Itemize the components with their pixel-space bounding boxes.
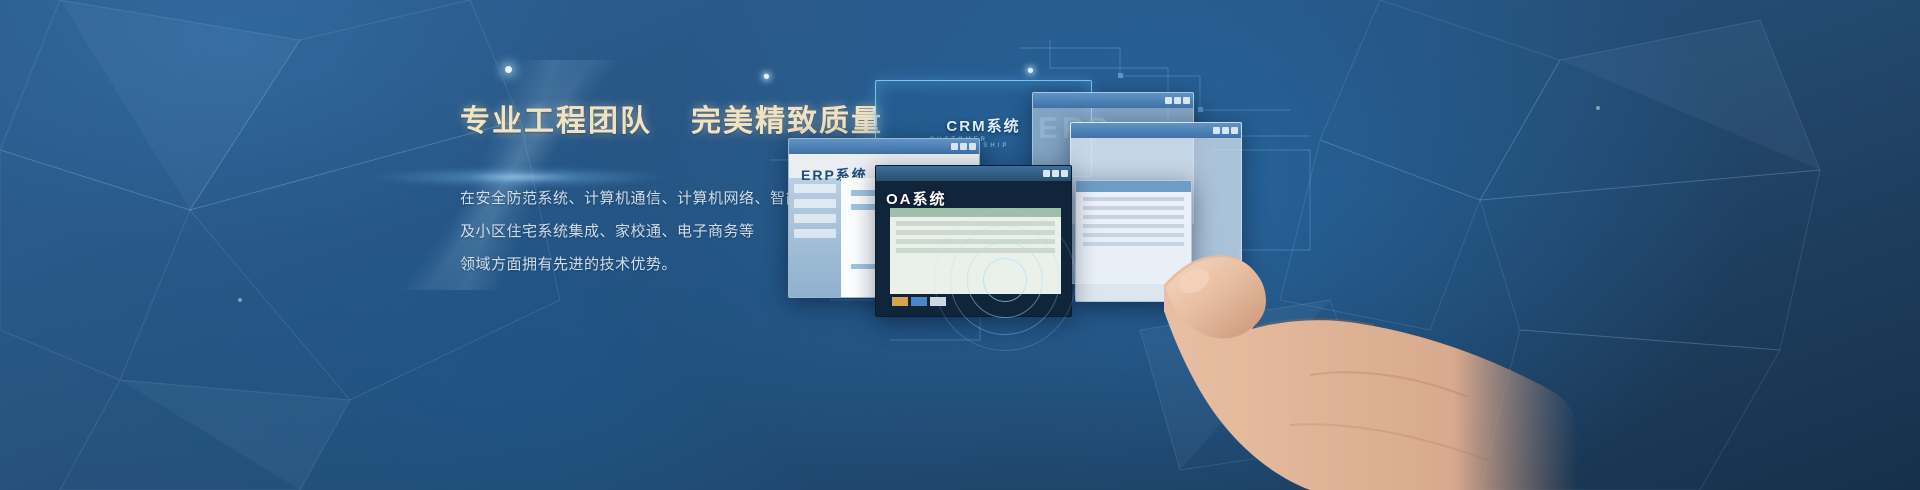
window-titlebar[interactable] bbox=[1071, 123, 1241, 138]
secondary-window-3[interactable] bbox=[1075, 180, 1192, 302]
action-button-secondary[interactable] bbox=[911, 297, 927, 306]
close-icon[interactable] bbox=[1061, 170, 1068, 177]
close-icon[interactable] bbox=[1183, 97, 1190, 104]
content-line bbox=[896, 248, 1055, 253]
oa-action-buttons[interactable] bbox=[892, 297, 946, 306]
oa-window[interactable]: OA系统 bbox=[875, 165, 1072, 317]
content-line bbox=[1083, 233, 1184, 237]
sparkle-dot bbox=[505, 66, 512, 73]
content-line bbox=[1083, 242, 1184, 246]
minimize-icon[interactable] bbox=[1043, 170, 1050, 177]
content-line bbox=[1083, 206, 1184, 210]
erp-sidebar[interactable] bbox=[789, 178, 841, 298]
hero-banner: 专业工程团队 完美精致质量 在安全防范系统、计算机通信、计算机网络、智能大厦 及… bbox=[0, 0, 1920, 490]
window-titlebar[interactable] bbox=[1033, 93, 1193, 108]
content-line bbox=[896, 230, 1055, 235]
sparkle-dot bbox=[764, 74, 769, 79]
window-titlebar[interactable] bbox=[876, 166, 1071, 181]
minimize-icon[interactable] bbox=[951, 143, 958, 150]
close-icon[interactable] bbox=[969, 143, 976, 150]
sidebar-item[interactable] bbox=[794, 214, 836, 223]
content-line bbox=[896, 239, 1055, 244]
minimize-icon[interactable] bbox=[1213, 127, 1220, 134]
window-titlebar[interactable] bbox=[789, 139, 979, 154]
window-titlebar[interactable] bbox=[1076, 181, 1191, 192]
app-screens-group: ERP CRM系统 CUSTOMER RELATIONSHIP bbox=[770, 60, 1330, 380]
action-button-primary[interactable] bbox=[892, 297, 908, 306]
sidebar-item[interactable] bbox=[794, 229, 836, 238]
content-header bbox=[890, 208, 1061, 217]
oa-content-area bbox=[890, 208, 1061, 294]
action-button-tertiary[interactable] bbox=[930, 297, 946, 306]
content-line bbox=[1083, 215, 1184, 219]
maximize-icon[interactable] bbox=[1174, 97, 1181, 104]
sidebar-item[interactable] bbox=[794, 184, 836, 193]
content-line bbox=[1083, 224, 1184, 228]
content-line bbox=[896, 221, 1055, 226]
close-icon[interactable] bbox=[1231, 127, 1238, 134]
maximize-icon[interactable] bbox=[960, 143, 967, 150]
minimize-icon[interactable] bbox=[1165, 97, 1172, 104]
sidebar-item[interactable] bbox=[794, 199, 836, 208]
oa-window-label: OA系统 bbox=[886, 188, 947, 209]
content-line bbox=[1083, 197, 1184, 201]
headline-part-1: 专业工程团队 bbox=[460, 105, 652, 138]
maximize-icon[interactable] bbox=[1052, 170, 1059, 177]
crm-window-label: CRM系统 bbox=[946, 115, 1020, 136]
maximize-icon[interactable] bbox=[1222, 127, 1229, 134]
